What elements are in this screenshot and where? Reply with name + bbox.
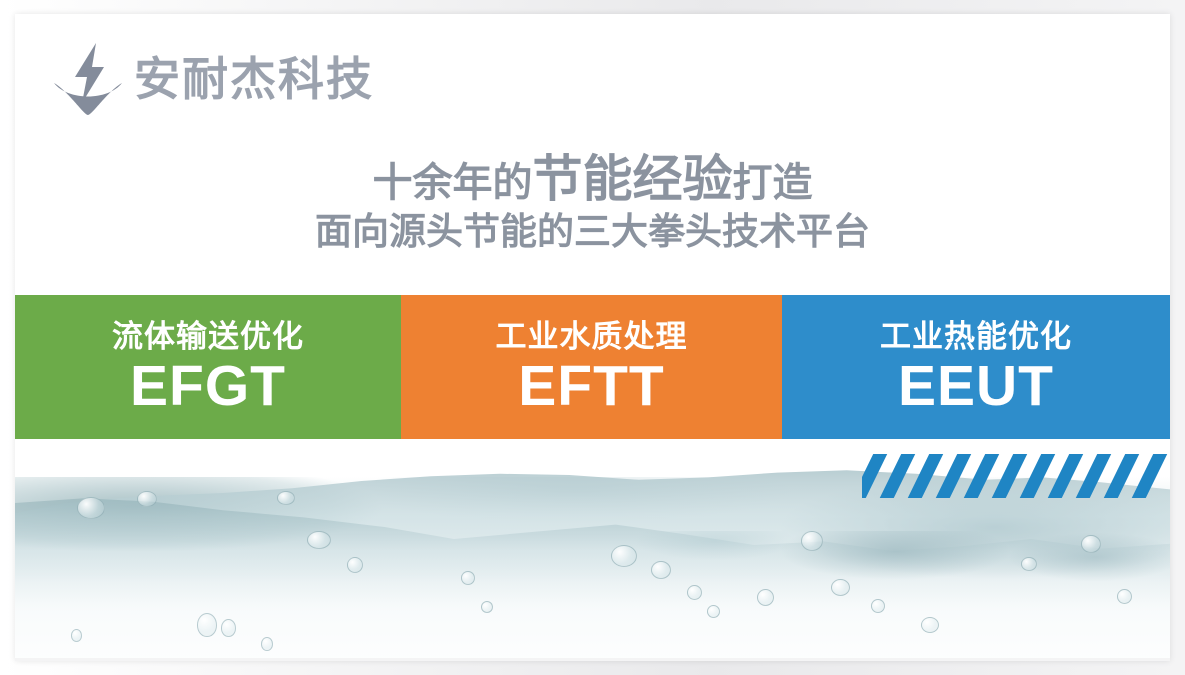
water-droplet <box>221 619 236 637</box>
water-bubble <box>687 585 702 600</box>
headline-line-1: 十余年的节能经验打造 <box>15 154 1170 205</box>
water-spray <box>15 531 1170 641</box>
slide-canvas: 安耐杰科技 十余年的节能经验打造 面向源头节能的三大拳头技术平台 流体输送优化 … <box>15 14 1170 661</box>
headline-block: 十余年的节能经验打造 面向源头节能的三大拳头技术平台 <box>15 154 1170 251</box>
water-bubble <box>651 561 671 579</box>
water-bubble <box>921 617 939 633</box>
slide-frame: 安耐杰科技 十余年的节能经验打造 面向源头节能的三大拳头技术平台 流体输送优化 … <box>0 0 1185 675</box>
slide-bottom-edge <box>15 658 1170 661</box>
water-bubble <box>757 589 774 606</box>
platform-title-eftt: 工业水质处理 <box>496 321 688 352</box>
water-bubble <box>1021 557 1037 571</box>
headline-line-2: 面向源头节能的三大拳头技术平台 <box>15 213 1170 251</box>
water-bubble <box>707 605 720 618</box>
water-bubble <box>1081 535 1101 553</box>
company-name: 安耐杰科技 <box>134 56 374 102</box>
water-droplet <box>261 637 273 651</box>
platform-title-efgt: 流体输送优化 <box>112 321 304 352</box>
water-bubble <box>871 599 885 613</box>
lightning-bolt-swoosh-icon <box>52 41 124 117</box>
platform-code-eftt: EFTT <box>518 357 664 417</box>
water-bubble <box>611 545 637 567</box>
headline-line1-prefix: 十余年的 <box>373 161 533 205</box>
water-bubble <box>77 497 105 519</box>
water-bubble <box>461 571 475 585</box>
platform-panel-eftt[interactable]: 工业水质处理 EFTT <box>401 295 782 439</box>
water-bubble <box>307 531 331 549</box>
headline-line1-suffix: 打造 <box>733 161 813 205</box>
water-bubble <box>1117 589 1132 604</box>
platform-panel-efgt[interactable]: 流体输送优化 EFGT <box>15 295 401 439</box>
water-bubble <box>801 531 823 551</box>
headline-line1-emphasis: 节能经验 <box>533 151 733 207</box>
platform-panel-eeut[interactable]: 工业热能优化 EEUT <box>782 295 1170 439</box>
water-droplet <box>71 629 82 642</box>
company-logo[interactable]: 安耐杰科技 <box>52 36 374 122</box>
platform-title-eeut: 工业热能优化 <box>880 321 1072 352</box>
water-bubble <box>831 579 850 596</box>
diagonal-stripes-icon <box>862 454 1170 498</box>
water-droplet <box>197 613 217 637</box>
technology-platform-panels: 流体输送优化 EFGT 工业水质处理 EFTT 工业热能优化 EEUT <box>15 295 1170 439</box>
water-bubble <box>481 601 493 613</box>
water-bubble <box>137 491 157 507</box>
water-bubble <box>347 557 363 573</box>
platform-code-efgt: EFGT <box>130 357 286 417</box>
platform-code-eeut: EEUT <box>898 357 1054 417</box>
water-bubble <box>277 491 295 505</box>
